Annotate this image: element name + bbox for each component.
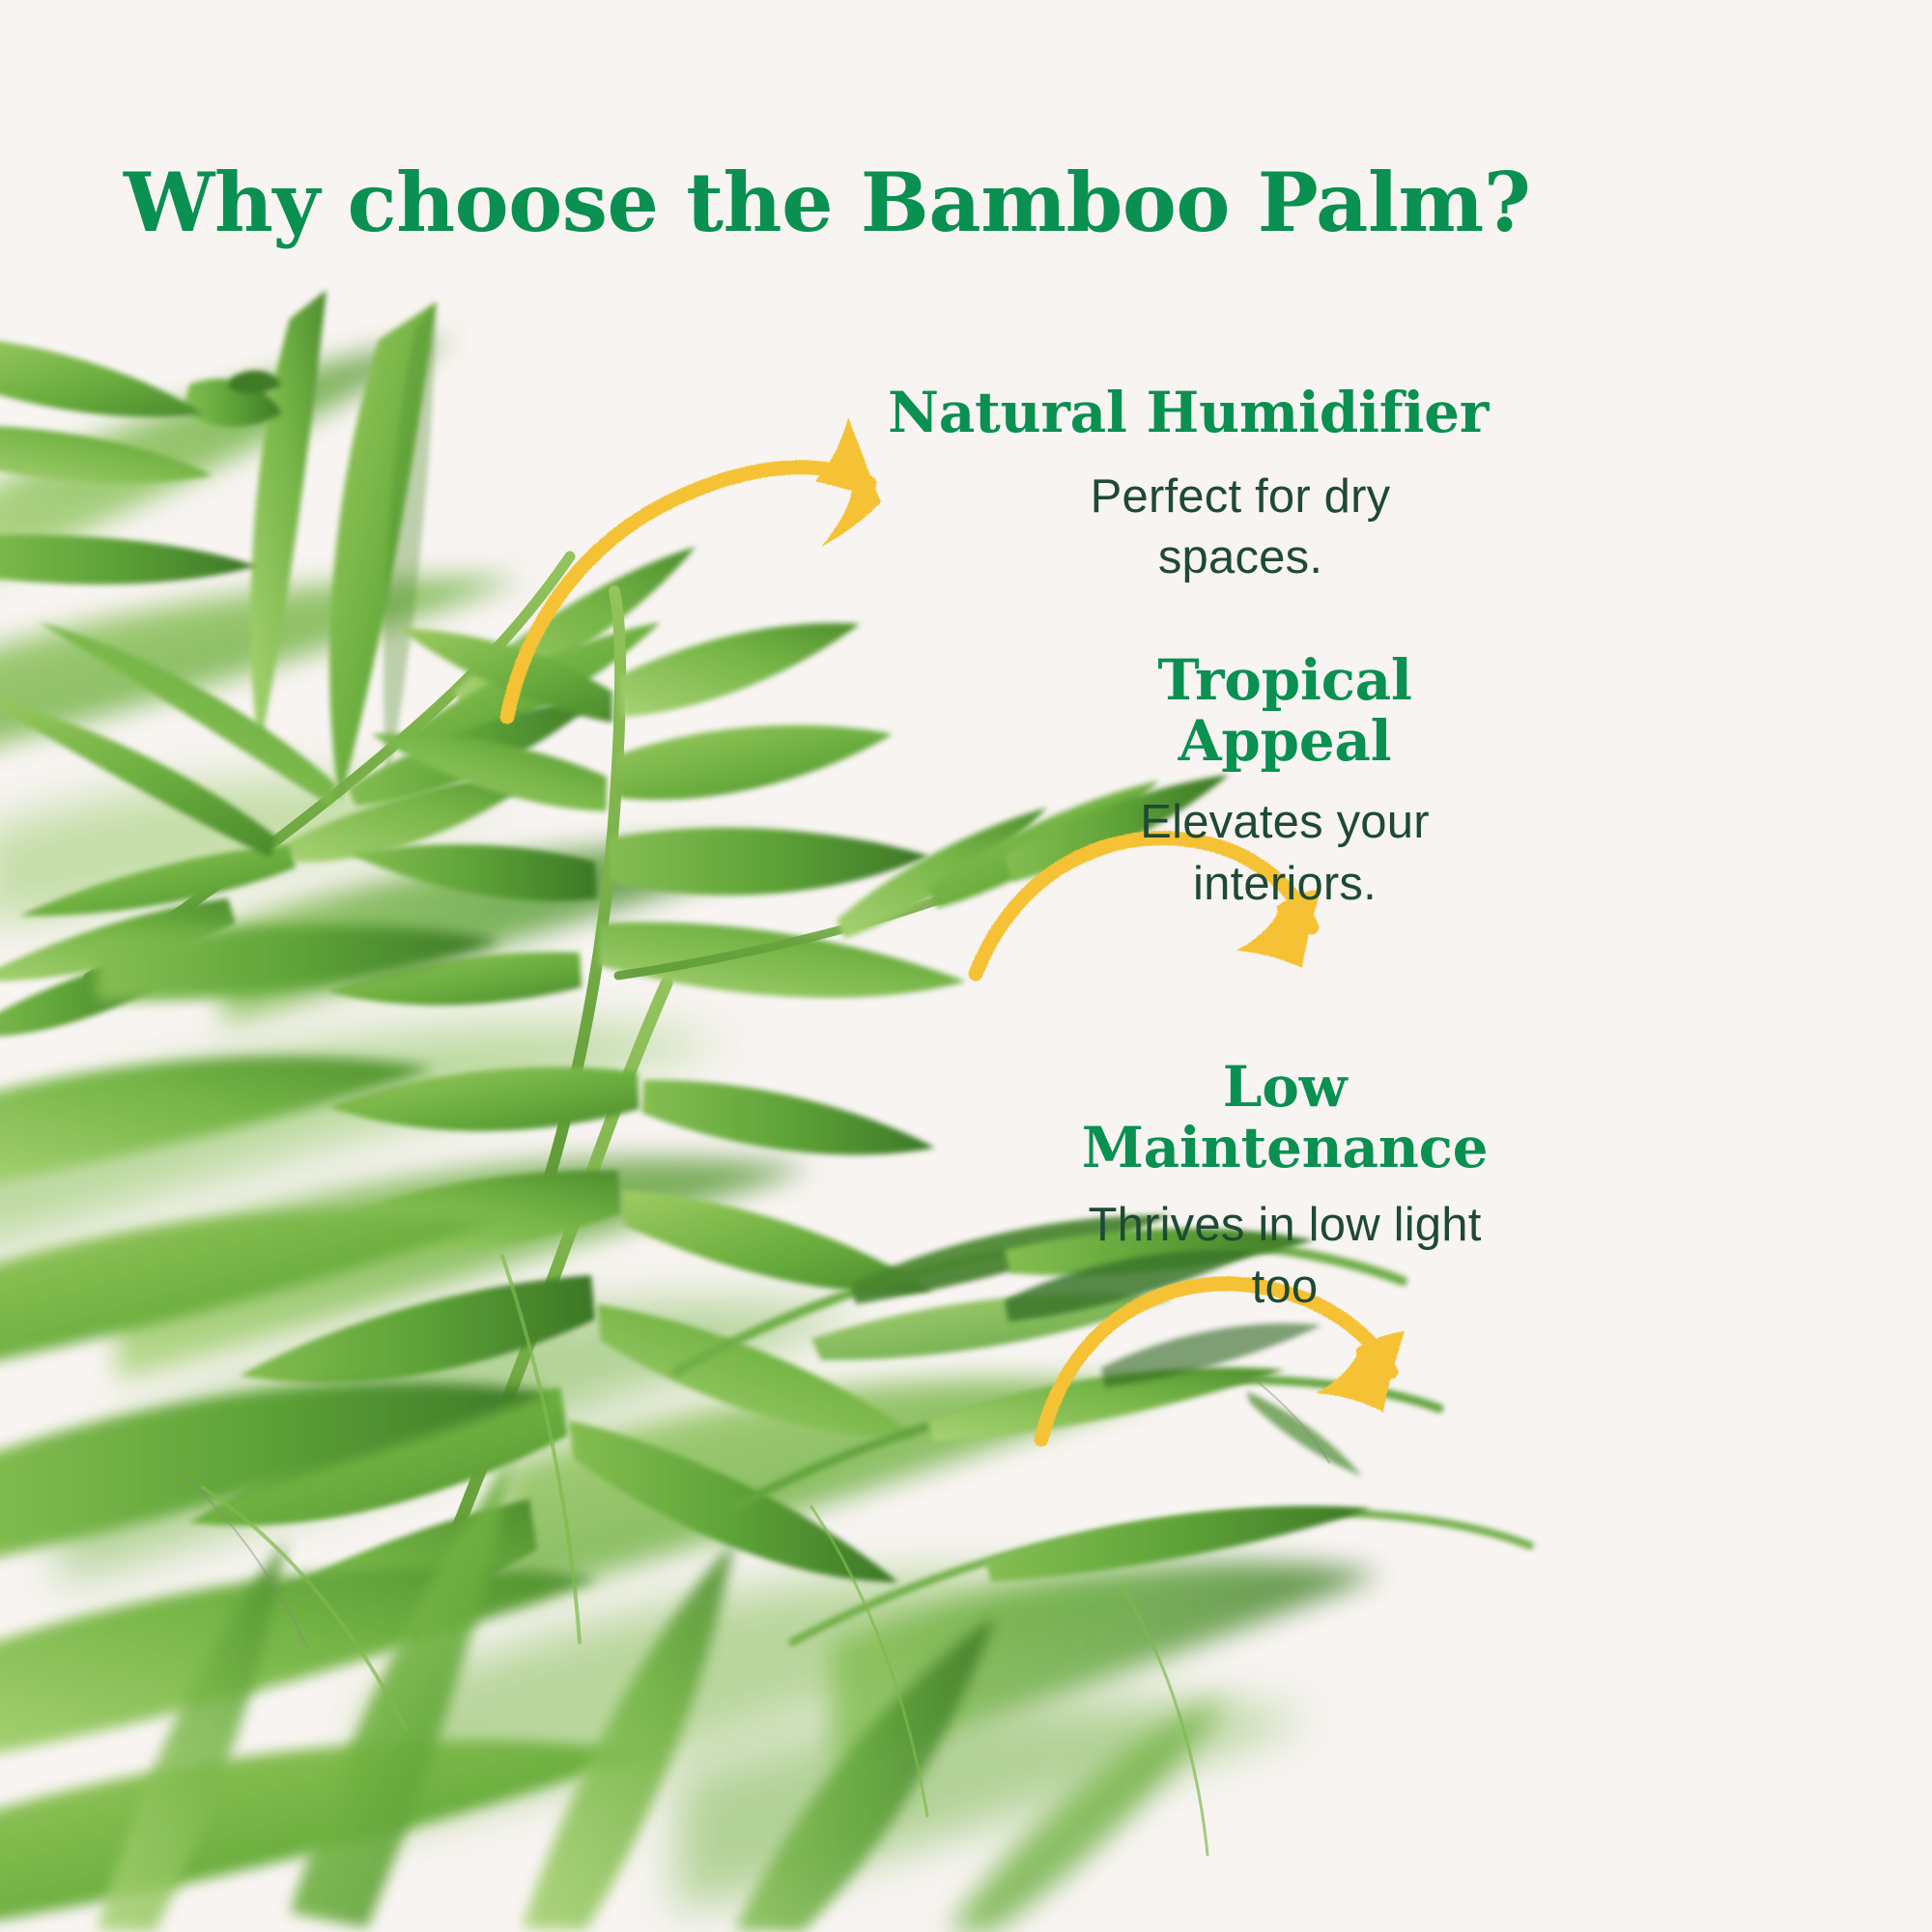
curved-arrow-icon-1: [507, 417, 881, 717]
feature-natural-humidifier: Natural Humidifier Perfect for dry space…: [869, 383, 1507, 589]
arrow-layer: [0, 0, 1932, 1932]
feature-low-maintenance: Low Maintenance Thrives in low light too: [1063, 1057, 1507, 1319]
feature-description: Elevates your interiors.: [1072, 792, 1497, 915]
feature-description: Thrives in low light too: [1063, 1195, 1507, 1318]
bamboo-palm-photo: [0, 0, 1932, 1932]
feature-heading: Tropical Appeal: [1072, 650, 1497, 771]
page-title: Why choose the Bamboo Palm?: [124, 160, 1530, 245]
feature-tropical-appeal: Tropical Appeal Elevates your interiors.: [1072, 650, 1497, 916]
infographic-canvas: Why choose the Bamboo Palm? Natural Humi…: [0, 0, 1932, 1932]
feature-description: Perfect for dry spaces.: [1028, 467, 1453, 589]
feature-heading: Low Maintenance: [1063, 1057, 1507, 1178]
feature-heading: Natural Humidifier: [869, 383, 1507, 443]
